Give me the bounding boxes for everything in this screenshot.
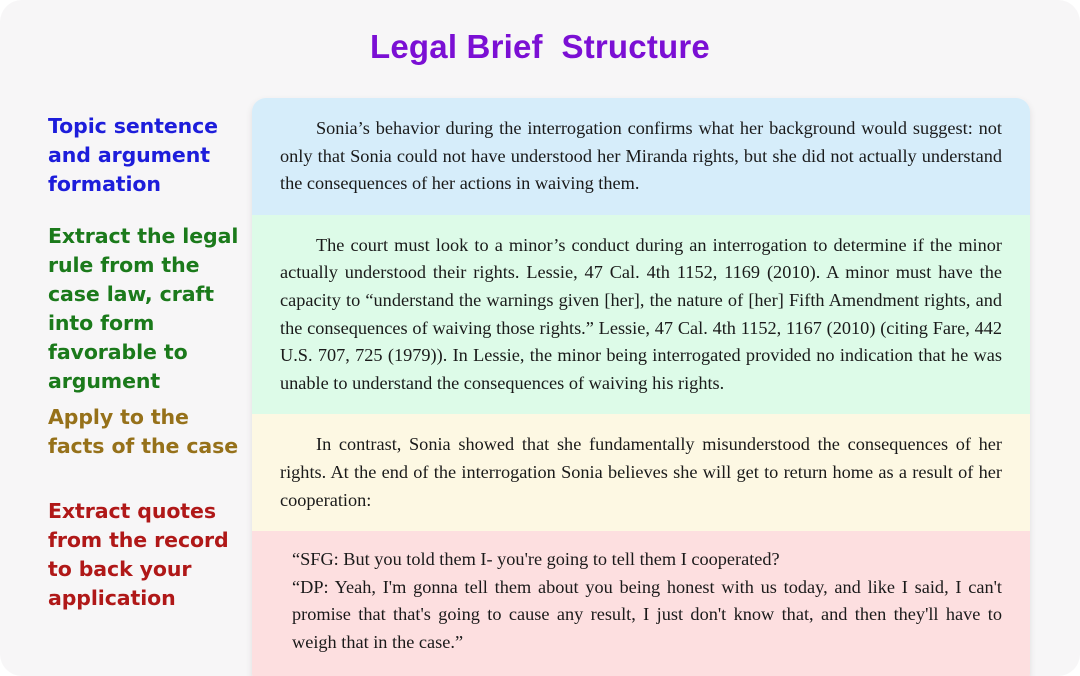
topic-sentence-block: Sonia’s behavior during the interrogatio… [252,98,1030,215]
slide-page: Legal Brief Structure Topic sentence and… [0,0,1080,676]
record-quote-line-1: “SFG: But you told them I- you're going … [280,546,1002,574]
brief-text-panel: Sonia’s behavior during the interrogatio… [252,98,1030,676]
legal-rule-block: The court must look to a minor’s conduct… [252,215,1030,415]
topic-sentence-text: Sonia’s behavior during the interrogatio… [280,115,1002,198]
sidebar-label-topic-sentence: Topic sentence and argument formation [48,112,248,199]
record-quote-line-2: “DP: Yeah, I'm gonna tell them about you… [280,574,1002,657]
annotation-sidebar: Topic sentence and argument formation Ex… [48,98,248,643]
record-quotes-block: “SFG: But you told them I- you're going … [252,531,1030,676]
application-block: In contrast, Sonia showed that she funda… [252,414,1030,531]
legal-rule-text: The court must look to a minor’s conduct… [280,232,1002,398]
sidebar-label-legal-rule: Extract the legal rule from the case law… [48,222,248,396]
slide-body: Topic sentence and argument formation Ex… [0,98,1080,643]
sidebar-label-record-quotes: Extract quotes from the record to back y… [48,497,248,613]
application-text: In contrast, Sonia showed that she funda… [280,431,1002,514]
sidebar-label-application: Apply to the facts of the case [48,403,248,461]
page-title: Legal Brief Structure [0,28,1080,66]
